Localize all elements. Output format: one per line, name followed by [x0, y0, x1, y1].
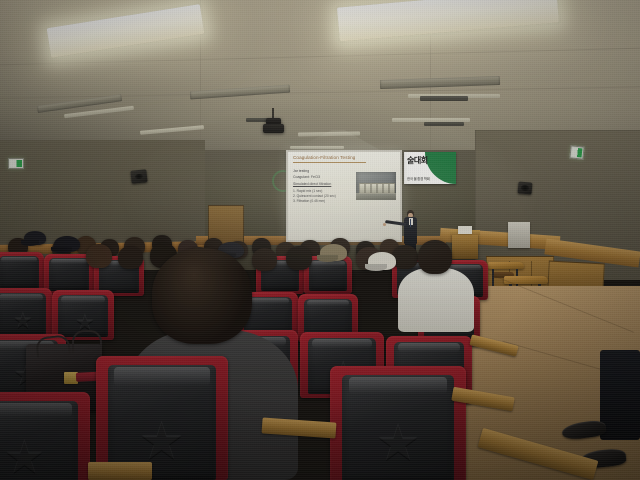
audience-head [392, 245, 418, 269]
slide-photo [356, 172, 396, 200]
audience-head [286, 246, 312, 270]
slide-photo-jar [389, 183, 395, 194]
foreground-attendee-head [152, 248, 252, 344]
emergency-exit-sign [569, 145, 584, 159]
audience-cap-white [368, 252, 396, 270]
ceiling-projector [263, 124, 284, 133]
handbag-handle [72, 330, 102, 354]
projection-screen: Coagulation-Filtration Testing Jar testi… [288, 152, 400, 240]
auditorium-seat[interactable] [0, 252, 44, 292]
auditorium-seat[interactable]: ★ [0, 392, 90, 480]
presenter-hand [383, 223, 386, 226]
presenter-tie [410, 219, 412, 227]
equipment-panel [508, 222, 530, 248]
conference-banner: 술대회 한국 물 환경 학회 [404, 152, 456, 184]
audience-cap [320, 244, 347, 261]
slide-title: Coagulation-Filtration Testing [293, 156, 395, 161]
audience-head [252, 248, 277, 271]
presentation-slide: Coagulation-Filtration Testing Jar testi… [288, 152, 400, 240]
ceiling-vent [424, 122, 464, 126]
slide-numbered-line: 3. Filtration (0.45 mm) [293, 200, 395, 203]
ceiling-light-fixture-unlit [290, 146, 344, 149]
lecture-hall-photo: 술대회 한국 물 환경 학회 Coagulation-Filtration Te… [0, 0, 640, 480]
banner-title: 술대회 [407, 157, 428, 165]
wall-speaker [518, 181, 533, 194]
podium [452, 233, 478, 259]
podium-paper [458, 226, 472, 234]
slide-photo-bench [356, 193, 396, 200]
seat-armrest [88, 462, 152, 480]
audience-head [118, 246, 143, 269]
audience-cap [24, 231, 46, 245]
ceiling-vent [420, 96, 468, 101]
attendee-white-shirt [398, 268, 474, 332]
attendee-trousers [600, 350, 640, 440]
audience-head [418, 240, 452, 274]
banner-subtitle: 한국 물 환경 학회 [407, 178, 430, 181]
audience-head [86, 244, 112, 268]
emergency-exit-sign [8, 158, 24, 169]
auditorium-seat[interactable]: ★ [0, 288, 52, 338]
handbag-handle [35, 334, 71, 357]
slide-title-rule [293, 162, 366, 163]
audience-cap [54, 236, 80, 252]
wall-speaker [130, 169, 147, 184]
auditorium-seat[interactable]: ★ [330, 366, 466, 480]
